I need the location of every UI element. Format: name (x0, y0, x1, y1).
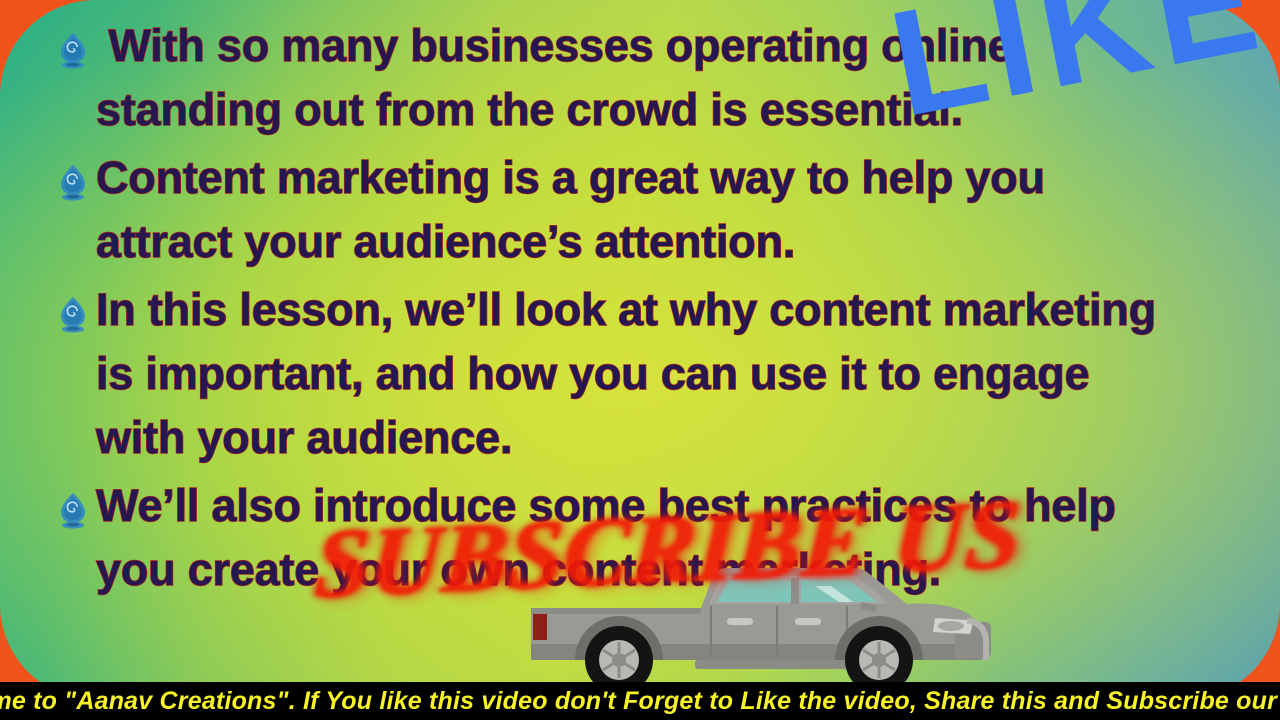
list-item: With so many businesses operating online… (56, 14, 1270, 142)
list-item-text: With so many businesses operating online… (96, 14, 1270, 142)
droplet-logo-icon (56, 30, 90, 70)
list-item: We’ll also introduce some best practices… (56, 474, 1270, 602)
video-frame: With so many businesses operating online… (0, 0, 1280, 720)
list-item: In this lesson, we’ll look at why conten… (56, 278, 1270, 470)
ticker-text: ome to "Aanav Creations". If You like th… (0, 682, 1280, 720)
droplet-logo-icon (56, 162, 90, 202)
droplet-logo-icon (56, 490, 90, 530)
list-item: Content marketing is a great way to help… (56, 146, 1270, 274)
list-item-text: We’ll also introduce some best practices… (96, 474, 1270, 602)
ticker-bar: ome to "Aanav Creations". If You like th… (0, 682, 1280, 720)
slide-text-block: With so many businesses operating online… (0, 0, 1280, 630)
list-item-text: Content marketing is a great way to help… (96, 146, 1270, 274)
list-item-text: In this lesson, we’ll look at why conten… (96, 278, 1270, 470)
droplet-logo-icon (56, 294, 90, 334)
